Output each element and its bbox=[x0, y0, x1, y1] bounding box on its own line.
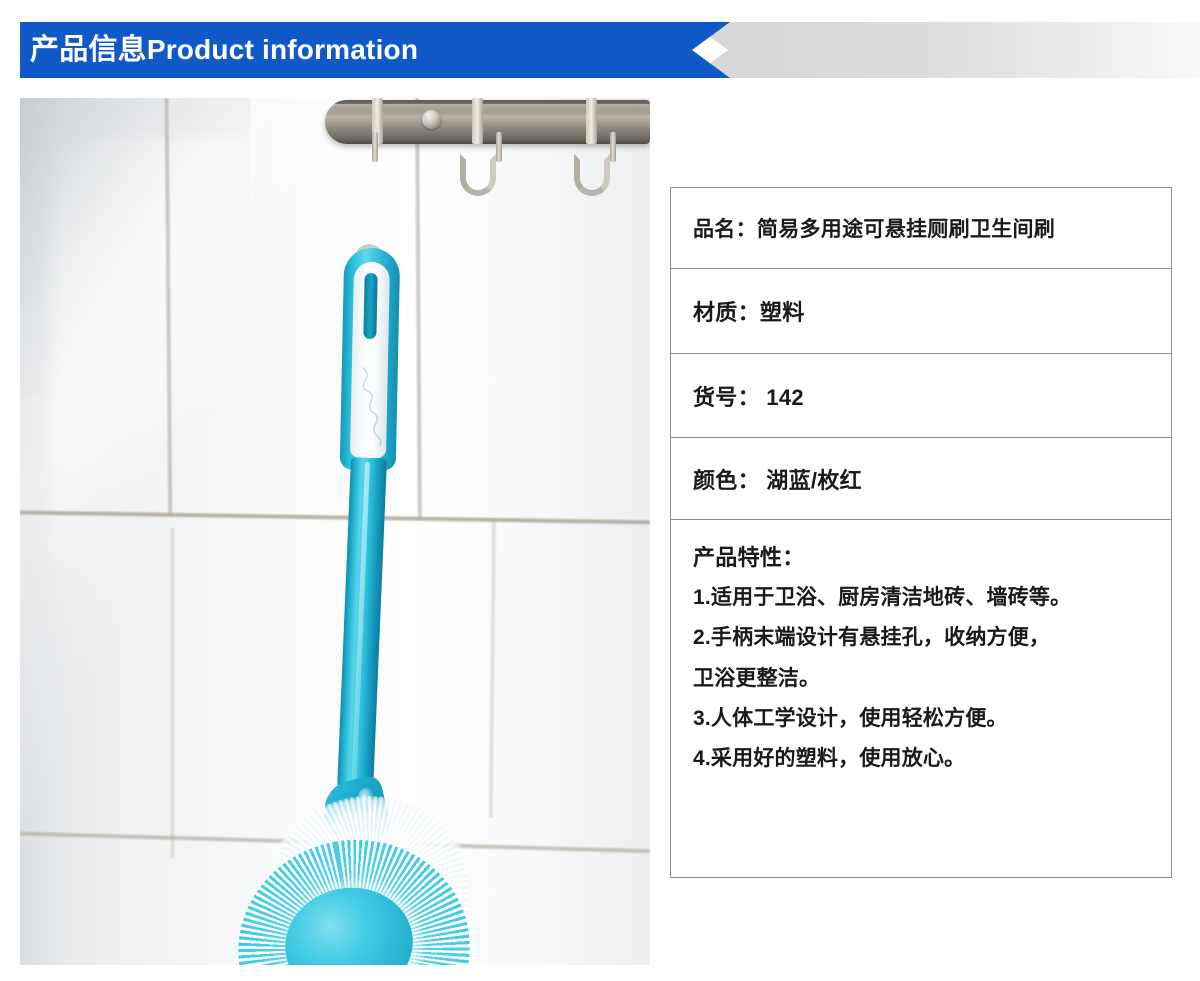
tile-grout-line bbox=[170, 528, 175, 858]
table-row-sku: 货号： 142 bbox=[671, 354, 1171, 438]
handle-brand-script bbox=[355, 360, 387, 449]
sku-text: 货号： 142 bbox=[693, 380, 804, 412]
hook-stem bbox=[372, 132, 378, 162]
features-title: 产品特性： bbox=[693, 540, 1149, 572]
page-title: 产品信息Product information bbox=[30, 22, 418, 78]
table-row-features: 产品特性： 1.适用于卫浴、厨房清洁地砖、墙砖等。 2.手柄末端设计有悬挂孔，收… bbox=[671, 520, 1171, 876]
table-row-color: 颜色： 湖蓝/枚红 bbox=[671, 438, 1171, 520]
product-name-text: 品名：简易多用途可悬挂厕刷卫生间刷 bbox=[693, 213, 1055, 243]
rail-hook-tab bbox=[586, 98, 597, 144]
product-info-table: 品名：简易多用途可悬挂厕刷卫生间刷 材质：塑料 货号： 142 颜色： 湖蓝/枚… bbox=[670, 187, 1172, 878]
material-text: 材质：塑料 bbox=[693, 295, 805, 327]
page-title-cn: 产品信息 bbox=[30, 34, 147, 66]
page-title-en: Product information bbox=[147, 34, 418, 65]
handle-hanging-hole bbox=[363, 273, 377, 339]
feature-item: 2.手柄末端设计有悬挂孔，收纳方便， bbox=[693, 618, 1149, 658]
hook-stem bbox=[610, 132, 616, 162]
table-row-material: 材质：塑料 bbox=[671, 269, 1171, 354]
color-text: 颜色： 湖蓝/枚红 bbox=[693, 463, 862, 495]
feature-item: 1.适用于卫浴、厨房清洁地砖、墙砖等。 bbox=[693, 578, 1149, 618]
rail-hook-tab bbox=[472, 98, 483, 144]
feature-item: 4.采用好的塑料，使用放心。 bbox=[693, 739, 1149, 779]
hook-stem bbox=[496, 132, 502, 162]
rail-screw-icon bbox=[422, 110, 441, 129]
table-row-product-name: 品名：简易多用途可悬挂厕刷卫生间刷 bbox=[671, 188, 1171, 269]
rail-hook bbox=[460, 154, 496, 196]
product-photo[interactable] bbox=[20, 98, 650, 965]
feature-item-continuation: 卫浴更整洁。 bbox=[693, 659, 1149, 699]
feature-item: 3.人体工学设计，使用轻松方便。 bbox=[693, 699, 1149, 739]
features-block: 产品特性： 1.适用于卫浴、厨房清洁地砖、墙砖等。 2.手柄末端设计有悬挂孔，收… bbox=[693, 540, 1149, 780]
wall-sheen bbox=[50, 138, 250, 568]
page-header-banner: 产品信息Product information bbox=[0, 22, 1200, 78]
rail-hook bbox=[574, 154, 610, 196]
banner-tail-bar bbox=[690, 22, 1200, 78]
